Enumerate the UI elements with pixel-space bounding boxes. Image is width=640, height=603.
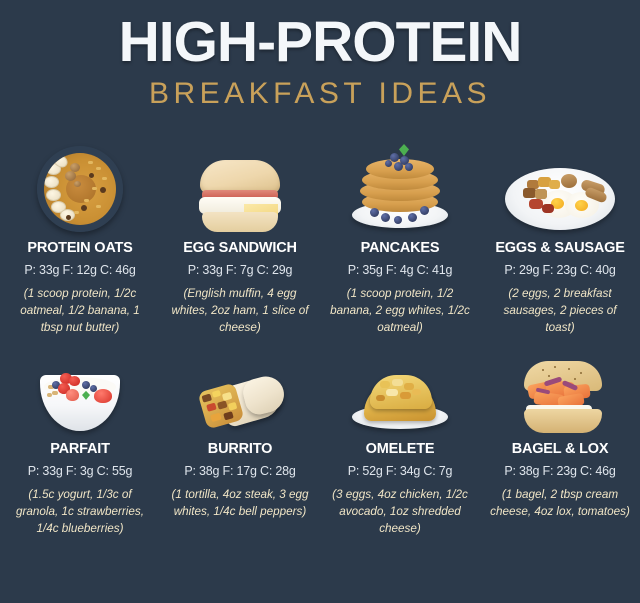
eggs-sausage-plate-icon (480, 129, 640, 234)
item-ingredients: (1 bagel, 2 tbsp cream cheese, 4oz lox, … (480, 487, 640, 521)
omelette-plate-icon (320, 337, 480, 435)
item-name: BAGEL & LOX (480, 441, 640, 457)
item-name: PROTEIN OATS (0, 240, 160, 256)
grid-row-1: PROTEIN OATS P: 33g F: 12g C: 46g (1 sco… (0, 129, 640, 337)
item-name: PANCAKES (320, 240, 480, 256)
pancake-stack-icon (320, 129, 480, 234)
item-macros: P: 33g F: 7g C: 29g (160, 263, 320, 277)
card-protein-oats[interactable]: PROTEIN OATS P: 33g F: 12g C: 46g (1 sco… (0, 129, 160, 337)
item-ingredients: (1.5c yogurt, 1/3c of granola, 1c strawb… (0, 487, 160, 538)
page-header: HIGH-PROTEIN BREAKFAST IDEAS (0, 0, 640, 109)
bagel-lox-icon (480, 337, 640, 435)
oatmeal-bowl-icon (0, 129, 160, 234)
page-title: HIGH-PROTEIN (0, 14, 640, 71)
breakfast-burrito-icon (160, 337, 320, 435)
page-subtitle: BREAKFAST IDEAS (0, 79, 640, 109)
card-eggs-sausage[interactable]: EGGS & SAUSAGE P: 29g F: 23g C: 40g (2 e… (480, 129, 640, 337)
grid-row-2: PARFAIT P: 33g F: 3g C: 55g (1.5c yogurt… (0, 337, 640, 538)
card-burrito[interactable]: BURRITO P: 38g F: 17g C: 28g (1 tortilla… (160, 337, 320, 538)
item-ingredients: (1 scoop protein, 1/2c oatmeal, 1/2 bana… (0, 286, 160, 337)
item-ingredients: (3 eggs, 4oz chicken, 1/2c avocado, 1oz … (320, 487, 480, 538)
item-macros: P: 52g F: 34g C: 7g (320, 464, 480, 478)
item-name: EGG SANDWICH (160, 240, 320, 256)
item-macros: P: 38g F: 23g C: 46g (480, 464, 640, 478)
item-ingredients: (1 tortilla, 4oz steak, 3 egg whites, 1/… (160, 487, 320, 521)
breakfast-ideas-grid: PROTEIN OATS P: 33g F: 12g C: 46g (1 sco… (0, 129, 640, 538)
card-bagel-lox[interactable]: BAGEL & LOX P: 38g F: 23g C: 46g (1 bage… (480, 337, 640, 538)
card-omelete[interactable]: OMELETE P: 52g F: 34g C: 7g (3 eggs, 4oz… (320, 337, 480, 538)
item-name: EGGS & SAUSAGE (480, 240, 640, 256)
item-macros: P: 29g F: 23g C: 40g (480, 263, 640, 277)
item-name: OMELETE (320, 441, 480, 457)
egg-sandwich-icon (160, 129, 320, 234)
yogurt-parfait-bowl-icon (0, 337, 160, 435)
item-ingredients: (1 scoop protein, 1/2 banana, 2 egg whit… (320, 286, 480, 337)
item-name: BURRITO (160, 441, 320, 457)
card-parfait[interactable]: PARFAIT P: 33g F: 3g C: 55g (1.5c yogurt… (0, 337, 160, 538)
card-egg-sandwich[interactable]: EGG SANDWICH P: 33g F: 7g C: 29g (Englis… (160, 129, 320, 337)
item-ingredients: (2 eggs, 2 breakfast sausages, 2 pieces … (480, 286, 640, 337)
item-macros: P: 35g F: 4g C: 41g (320, 263, 480, 277)
item-macros: P: 33g F: 3g C: 55g (0, 464, 160, 478)
card-pancakes[interactable]: PANCAKES P: 35g F: 4g C: 41g (1 scoop pr… (320, 129, 480, 337)
item-macros: P: 33g F: 12g C: 46g (0, 263, 160, 277)
item-ingredients: (English muffin, 4 egg whites, 2oz ham, … (160, 286, 320, 337)
item-macros: P: 38g F: 17g C: 28g (160, 464, 320, 478)
item-name: PARFAIT (0, 441, 160, 457)
